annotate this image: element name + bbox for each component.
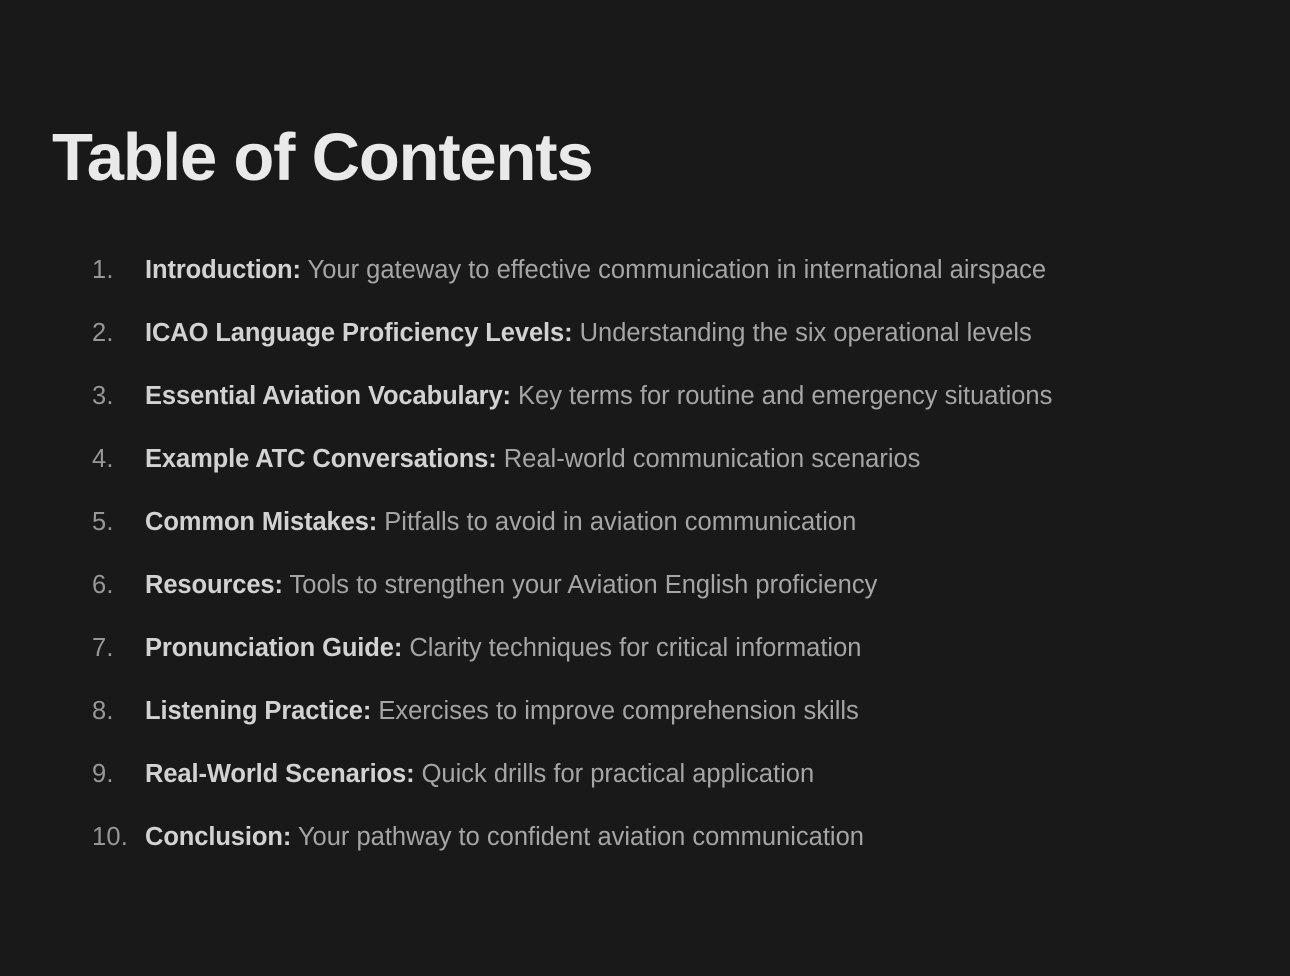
list-item-description: Real-world communication scenarios <box>504 445 921 473</box>
list-item-number: 7. <box>92 632 145 665</box>
list-item[interactable]: 5. Common Mistakes: Pitfalls to avoid in… <box>92 506 1290 569</box>
list-item-text: Pronunciation Guide: Clarity techniques … <box>145 632 1290 665</box>
list-item[interactable]: 7. Pronunciation Guide: Clarity techniqu… <box>92 632 1290 695</box>
list-item-label: ICAO Language Proficiency Levels: <box>145 319 573 347</box>
list-item-description: Clarity techniques for critical informat… <box>409 634 861 662</box>
list-item-label: Common Mistakes: <box>145 508 377 536</box>
list-item[interactable]: 8. Listening Practice: Exercises to impr… <box>92 695 1290 758</box>
list-item-number: 9. <box>92 758 145 791</box>
list-item-number: 10. <box>92 821 145 854</box>
list-item-label: Introduction: <box>145 256 301 284</box>
list-item-text: Real-World Scenarios: Quick drills for p… <box>145 758 1290 791</box>
list-item-label: Resources: <box>145 571 283 599</box>
list-item-number: 3. <box>92 380 145 413</box>
list-item[interactable]: 4. Example ATC Conversations: Real-world… <box>92 443 1290 506</box>
list-item[interactable]: 2. ICAO Language Proficiency Levels: Und… <box>92 317 1290 380</box>
list-item[interactable]: 10. Conclusion: Your pathway to confiden… <box>92 821 1290 884</box>
list-item-number: 6. <box>92 569 145 602</box>
list-item-description: Your gateway to effective communication … <box>308 256 1047 284</box>
list-item-label: Example ATC Conversations: <box>145 445 497 473</box>
table-of-contents-slide: Table of Contents 1. Introduction: Your … <box>0 0 1290 976</box>
list-item-description: Tools to strengthen your Aviation Englis… <box>290 571 878 599</box>
list-item-label: Essential Aviation Vocabulary: <box>145 382 511 410</box>
list-item-label: Conclusion: <box>145 823 291 851</box>
list-item-text: Common Mistakes: Pitfalls to avoid in av… <box>145 506 1290 539</box>
list-item-text: Essential Aviation Vocabulary: Key terms… <box>145 380 1290 413</box>
list-item-description: Your pathway to confident aviation commu… <box>298 823 864 851</box>
list-item-label: Real-World Scenarios: <box>145 760 415 788</box>
list-item-number: 8. <box>92 695 145 728</box>
list-item[interactable]: 3. Essential Aviation Vocabulary: Key te… <box>92 380 1290 443</box>
list-item-description: Quick drills for practical application <box>422 760 815 788</box>
list-item[interactable]: 1. Introduction: Your gateway to effecti… <box>92 254 1290 317</box>
list-item-text: Resources: Tools to strengthen your Avia… <box>145 569 1290 602</box>
list-item-number: 5. <box>92 506 145 539</box>
list-item-text: ICAO Language Proficiency Levels: Unders… <box>145 317 1290 350</box>
list-item-text: Example ATC Conversations: Real-world co… <box>145 443 1290 476</box>
list-item-label: Pronunciation Guide: <box>145 634 402 662</box>
list-item-description: Understanding the six operational levels <box>580 319 1032 347</box>
list-item-description: Exercises to improve comprehension skill… <box>378 697 858 725</box>
list-item-number: 1. <box>92 254 145 287</box>
table-of-contents-list: 1. Introduction: Your gateway to effecti… <box>52 254 1290 884</box>
page-title: Table of Contents <box>52 123 592 193</box>
list-item[interactable]: 9. Real-World Scenarios: Quick drills fo… <box>92 758 1290 821</box>
list-item-text: Conclusion: Your pathway to confident av… <box>145 821 1290 854</box>
list-item-text: Introduction: Your gateway to effective … <box>145 254 1290 287</box>
list-item-number: 2. <box>92 317 145 350</box>
list-item-text: Listening Practice: Exercises to improve… <box>145 695 1290 728</box>
list-item-description: Pitfalls to avoid in aviation communicat… <box>384 508 856 536</box>
list-item[interactable]: 6. Resources: Tools to strengthen your A… <box>92 569 1290 632</box>
list-item-label: Listening Practice: <box>145 697 371 725</box>
list-item-number: 4. <box>92 443 145 476</box>
list-item-description: Key terms for routine and emergency situ… <box>518 382 1052 410</box>
